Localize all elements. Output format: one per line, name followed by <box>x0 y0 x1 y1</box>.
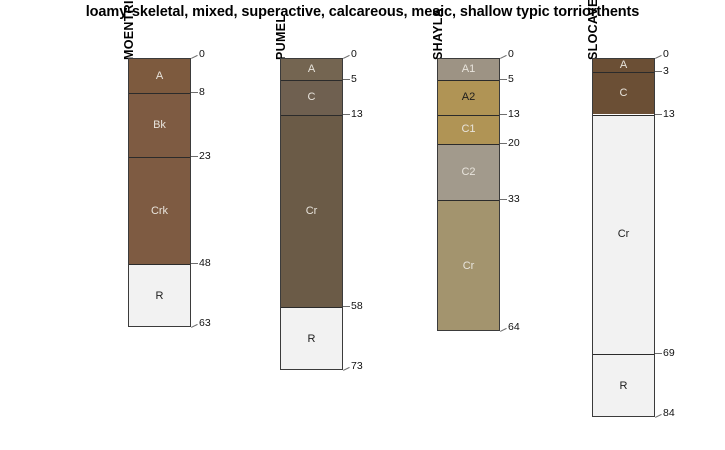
soil-horizon[interactable]: C <box>593 72 654 115</box>
profile-name-label: SHAYLA <box>431 8 445 60</box>
soil-horizon[interactable]: A <box>281 59 342 80</box>
depth-tick-label: 3 <box>663 66 669 77</box>
horizon-label: Cr <box>463 261 475 272</box>
profile-column: A1A2C1C2Cr <box>437 58 500 331</box>
depth-tick-label: 13 <box>351 109 363 120</box>
depth-tick <box>655 414 662 418</box>
horizon-label: R <box>308 334 316 345</box>
depth-tick-label: 0 <box>199 49 205 60</box>
depth-tick <box>343 367 350 371</box>
depth-tick <box>191 263 198 264</box>
depth-tick <box>343 114 350 115</box>
depth-tick <box>500 328 507 332</box>
depth-tick <box>343 55 350 59</box>
depth-tick <box>655 71 662 72</box>
depth-tick-label: 13 <box>508 109 520 120</box>
profile-column: ACCrR <box>280 58 343 370</box>
horizon-label: R <box>156 291 164 302</box>
depth-tick <box>655 114 662 115</box>
depth-tick <box>500 143 507 144</box>
horizon-label: A <box>156 71 163 82</box>
depth-tick-label: 0 <box>663 49 669 60</box>
depth-tick-label: 23 <box>199 151 211 162</box>
profile-name-label: PUMEL <box>274 15 288 60</box>
soil-horizon[interactable]: Cr <box>281 115 342 307</box>
horizon-label: Cr <box>306 206 318 217</box>
soil-horizon[interactable]: A <box>129 59 190 93</box>
horizon-label: A <box>308 64 315 75</box>
horizon-label: C1 <box>461 124 475 135</box>
soil-horizon[interactable]: A <box>593 59 654 72</box>
depth-tick-label: 0 <box>351 49 357 60</box>
soil-horizon[interactable]: Crk <box>129 157 190 264</box>
horizon-label: Crk <box>151 206 168 217</box>
depth-tick <box>500 114 507 115</box>
soil-horizon[interactable]: C2 <box>438 144 499 200</box>
depth-tick-label: 5 <box>508 74 514 85</box>
depth-tick <box>191 324 198 328</box>
depth-tick <box>191 92 198 93</box>
horizon-label: A2 <box>462 92 475 103</box>
depth-tick <box>655 55 662 59</box>
horizon-label: Cr <box>618 229 630 240</box>
depth-tick-label: 0 <box>508 49 514 60</box>
soil-horizon[interactable]: Cr <box>593 115 654 354</box>
depth-tick-label: 13 <box>663 109 675 120</box>
soil-horizon[interactable]: A1 <box>438 59 499 80</box>
depth-tick-label: 5 <box>351 74 357 85</box>
profile-name-label: SLOCAVE <box>586 0 600 60</box>
depth-tick <box>343 79 350 80</box>
depth-tick <box>655 353 662 354</box>
soil-horizon[interactable]: R <box>129 264 190 327</box>
depth-tick-label: 69 <box>663 348 675 359</box>
depth-tick-label: 84 <box>663 408 675 419</box>
depth-tick-label: 64 <box>508 322 520 333</box>
depth-tick <box>500 199 507 200</box>
soil-horizon[interactable]: C1 <box>438 115 499 145</box>
horizon-label: C2 <box>461 167 475 178</box>
horizon-label: R <box>620 381 628 392</box>
depth-tick-label: 8 <box>199 87 205 98</box>
chart-title: loamy-skeletal, mixed, superactive, calc… <box>0 4 725 20</box>
profile-name-label: MOENTRIA <box>122 0 136 60</box>
horizon-label: Bk <box>153 120 166 131</box>
depth-tick <box>191 55 198 59</box>
horizon-label: A1 <box>462 64 475 75</box>
depth-tick-label: 33 <box>508 194 520 205</box>
depth-tick-label: 63 <box>199 318 211 329</box>
depth-tick-label: 58 <box>351 301 363 312</box>
profile-column: ABkCrkR <box>128 58 191 327</box>
horizon-label: A <box>620 60 627 71</box>
soil-horizon[interactable]: R <box>281 307 342 370</box>
soil-horizon[interactable]: A2 <box>438 80 499 114</box>
depth-tick <box>500 55 507 59</box>
soil-horizon[interactable]: R <box>593 354 654 417</box>
soil-horizon[interactable]: Cr <box>438 200 499 331</box>
horizon-label: C <box>308 92 316 103</box>
depth-tick-label: 73 <box>351 361 363 372</box>
soil-horizon[interactable]: C <box>281 80 342 114</box>
depth-tick <box>191 156 198 157</box>
soil-profile-chart: loamy-skeletal, mixed, superactive, calc… <box>0 0 725 450</box>
depth-tick <box>343 306 350 307</box>
depth-tick-label: 20 <box>508 138 520 149</box>
soil-horizon[interactable]: Bk <box>129 93 190 157</box>
profile-column: ACCrR <box>592 58 655 417</box>
horizon-label: C <box>620 88 628 99</box>
depth-tick <box>500 79 507 80</box>
depth-tick-label: 48 <box>199 258 211 269</box>
